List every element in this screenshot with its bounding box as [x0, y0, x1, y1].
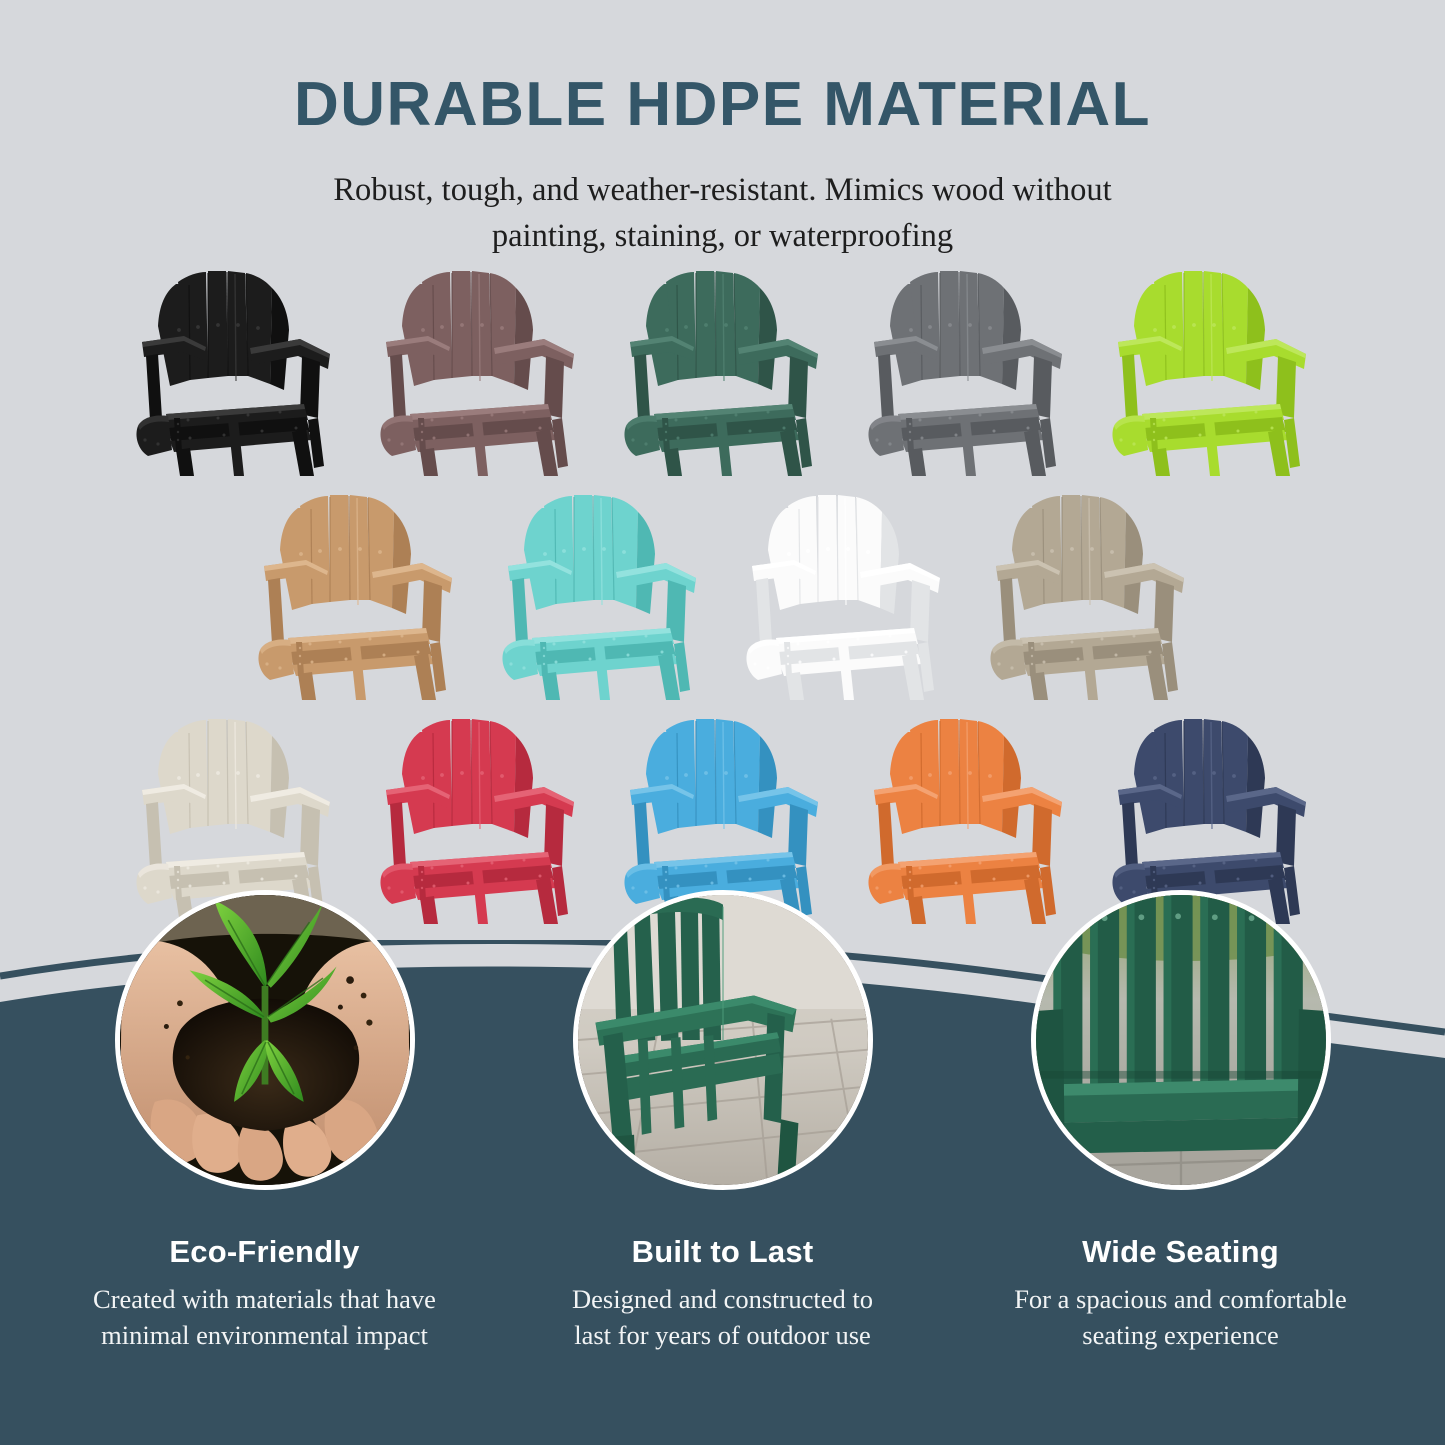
feature-desc-line-1: Created with materials that have — [93, 1284, 436, 1314]
chair-swatch-lime-green[interactable] — [1108, 268, 1314, 476]
page-subtitle: Robust, tough, and weather-resistant. Mi… — [218, 167, 1228, 259]
feature-description: For a spacious and comfortable seating e… — [1014, 1282, 1347, 1354]
seedling-in-hands-photo — [115, 890, 415, 1190]
chair-swatch-white[interactable] — [742, 492, 948, 700]
chair-illustration — [132, 268, 338, 476]
feature-desc-line-2: minimal environmental impact — [101, 1320, 428, 1350]
chair-swatch-teak[interactable] — [254, 492, 460, 700]
chair-illustration — [1108, 268, 1314, 476]
chair-illustration — [864, 268, 1070, 476]
chair-swatch-dark-green[interactable] — [620, 268, 826, 476]
chair-illustration — [376, 268, 582, 476]
feature-description: Designed and constructed to last for yea… — [572, 1282, 873, 1354]
green-chair-icon — [578, 895, 868, 1185]
feature-built-to-last: Built to Last Designed and constructed t… — [508, 890, 938, 1354]
chair-swatch-turquoise[interactable] — [498, 492, 704, 700]
seedling-icon — [120, 895, 410, 1185]
chair-swatch-greige[interactable] — [986, 492, 1192, 700]
chair-illustration — [254, 492, 460, 700]
feature-desc-line-2: last for years of outdoor use — [574, 1320, 871, 1350]
chair-color-grid — [0, 268, 1445, 924]
header: DURABLE HDPE MATERIAL Robust, tough, and… — [0, 0, 1445, 259]
chair-illustration — [742, 492, 948, 700]
feature-title: Eco-Friendly — [169, 1234, 359, 1270]
seat-closeup-icon — [1036, 895, 1326, 1185]
chair-swatch-brown[interactable] — [376, 268, 582, 476]
feature-desc-line-1: For a spacious and comfortable — [1014, 1284, 1347, 1314]
feature-list: Eco-Friendly Created with materials that… — [0, 890, 1445, 1445]
green-adirondack-chair-photo — [573, 890, 873, 1190]
feature-desc-line-1: Designed and constructed to — [572, 1284, 873, 1314]
chair-seat-closeup-photo — [1031, 890, 1331, 1190]
feature-eco-friendly: Eco-Friendly Created with materials that… — [50, 890, 480, 1354]
chair-illustration — [620, 268, 826, 476]
chair-row-2 — [0, 492, 1445, 700]
feature-title: Built to Last — [632, 1234, 814, 1270]
chair-illustration — [498, 492, 704, 700]
feature-wide-seating: Wide Seating For a spacious and comforta… — [966, 890, 1396, 1354]
feature-title: Wide Seating — [1082, 1234, 1279, 1270]
feature-desc-line-2: seating experience — [1082, 1320, 1278, 1350]
chair-illustration — [986, 492, 1192, 700]
chair-swatch-black[interactable] — [132, 268, 338, 476]
subtitle-line-2: painting, staining, or waterproofing — [492, 218, 953, 254]
feature-description: Created with materials that have minimal… — [93, 1282, 436, 1354]
page-title: DURABLE HDPE MATERIAL — [0, 72, 1445, 137]
chair-swatch-gray[interactable] — [864, 268, 1070, 476]
chair-row-1 — [0, 268, 1445, 476]
subtitle-line-1: Robust, tough, and weather-resistant. Mi… — [333, 172, 1111, 208]
